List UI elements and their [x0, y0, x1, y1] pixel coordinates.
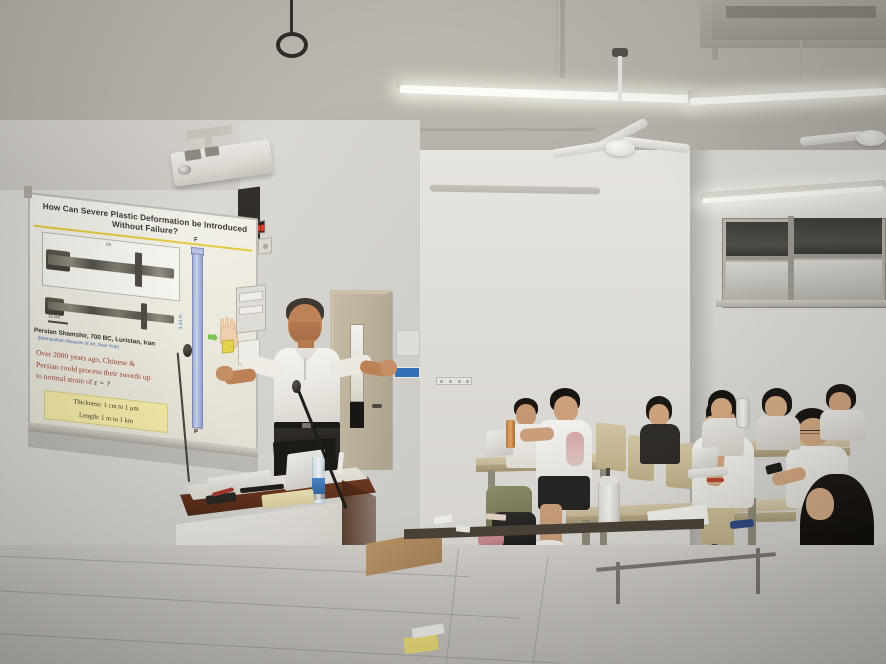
student-2-arm	[520, 427, 555, 442]
figure-label-a: (a)	[106, 241, 111, 247]
desk-railing-post-1	[616, 562, 620, 604]
vertical-bar-diagram	[192, 253, 203, 429]
student-6	[642, 396, 682, 466]
student-9	[820, 384, 866, 440]
outlet-dot-2	[449, 380, 452, 383]
student-9-shirt	[820, 410, 866, 440]
fan-hub	[605, 140, 635, 156]
wall-poster-faded	[396, 330, 420, 356]
ceiling-fan-1	[560, 96, 680, 166]
student-2-head	[554, 396, 578, 422]
desk-railing-post-2	[756, 548, 760, 594]
student-3-wrist-band	[707, 478, 724, 482]
window-transom-rail-2	[794, 254, 882, 258]
outlet-dot-1	[440, 380, 443, 383]
student-8-head	[765, 396, 787, 418]
microphone-head-2	[292, 380, 301, 393]
hanging-cable-coil	[290, 0, 293, 34]
bar-force-label-top: F	[194, 237, 198, 243]
window-2-upper	[794, 218, 882, 258]
bar-length-label: 3.14 m	[178, 314, 184, 330]
student-6-shirt	[640, 424, 680, 464]
fan-hub	[856, 130, 886, 146]
lecturer-placket	[304, 358, 306, 380]
student-1-drink-bottle	[506, 420, 515, 448]
window-1-upper	[726, 222, 788, 260]
student-6-head	[649, 404, 669, 426]
lecturer-hand-right	[380, 360, 397, 376]
green-arrow-icon	[208, 333, 218, 342]
thermos-cap	[600, 476, 618, 485]
floor	[0, 545, 886, 664]
ceiling-duct-slot	[726, 6, 876, 18]
bar-force-label-bottom: P	[194, 429, 198, 435]
podium-bottle-label	[312, 478, 325, 494]
projector-vent-2	[204, 146, 219, 157]
podium-bottle-cap	[314, 452, 322, 458]
sword-guard	[135, 253, 142, 287]
wall-switch-dot	[263, 244, 268, 249]
sword-blade	[48, 254, 173, 279]
door-frame-shadow	[388, 292, 393, 470]
student-8	[756, 388, 800, 450]
lecturer-face-shadow	[290, 322, 320, 342]
student-5-head	[806, 488, 834, 520]
led-digit-4	[261, 225, 264, 231]
cable-coil-loop	[276, 32, 308, 58]
student-8-shirt	[756, 416, 800, 450]
screen-mount-bracket	[24, 186, 32, 198]
student-2-shirt-graphic	[566, 432, 584, 466]
lecturer-hand-left	[216, 366, 233, 381]
ceiling-fan-2	[800, 120, 886, 160]
fan-blade-left	[800, 131, 865, 147]
lecture-hall-photo: How Can Severe Plastic Deformation be In…	[0, 0, 886, 664]
thermos-bottle-2	[736, 398, 750, 428]
window-transom-rail-1	[726, 256, 788, 260]
microphone-head	[183, 344, 192, 357]
sword-blade	[48, 301, 175, 324]
student-7-head	[711, 398, 732, 420]
window-2-lower	[794, 260, 882, 296]
sword-guard	[141, 303, 147, 330]
outlet-dot-4	[466, 380, 469, 383]
outlet-dot-3	[458, 380, 461, 383]
fan-pole	[618, 56, 622, 102]
body-strain-symbol: ε = ?	[94, 378, 110, 389]
light-suspension-rod-1	[556, 0, 558, 88]
window-mullion-vertical	[788, 216, 794, 302]
window-1-lower	[726, 262, 788, 294]
wall-sign-emergency	[394, 367, 420, 378]
window-sill	[716, 300, 886, 307]
